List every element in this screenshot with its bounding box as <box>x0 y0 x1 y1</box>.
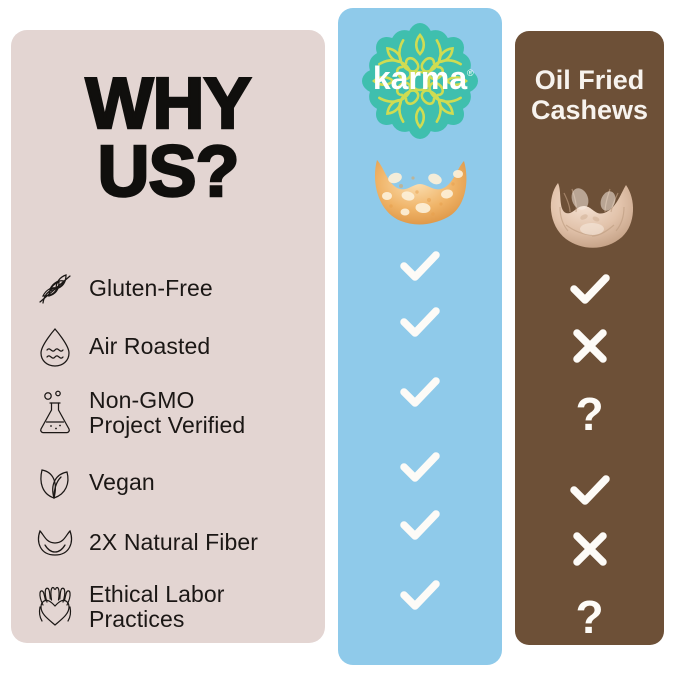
check-icon <box>392 573 448 619</box>
wheat-crossed-icon <box>29 263 81 315</box>
feature-label-line-2: Practices <box>89 606 184 632</box>
karma-marks-column <box>338 8 502 665</box>
title-line-1: WHY <box>11 70 325 138</box>
cashew-icon <box>29 517 81 569</box>
cross-icon <box>562 526 618 572</box>
check-icon <box>392 244 448 290</box>
feature-label-line-2: Project Verified <box>89 412 245 438</box>
question-mark-icon: ? <box>562 594 618 640</box>
page-title: WHY US? <box>11 70 325 207</box>
feature-label-line-1: Non-GMO <box>89 387 195 413</box>
feature-row-natural-fiber: 2X Natural Fiber <box>29 514 325 572</box>
feature-label: Vegan <box>89 470 155 495</box>
question-mark-glyph: ? <box>575 391 603 437</box>
feature-row-non-gmo: Non-GMO Project Verified <box>29 380 325 446</box>
check-icon <box>392 445 448 491</box>
oil-fried-column-panel: Oil Fried Cashews <box>515 31 664 645</box>
cross-icon <box>562 323 618 369</box>
feature-row-gluten-free: Gluten-Free <box>29 260 325 318</box>
comparison-infographic: WHY US? Gluten-Free <box>0 0 679 679</box>
flask-icon <box>29 387 81 439</box>
feature-list: Gluten-Free Air Roasted <box>11 252 325 642</box>
feature-row-vegan: Vegan <box>29 454 325 512</box>
question-mark-glyph: ? <box>575 594 603 640</box>
question-mark-icon: ? <box>562 391 618 437</box>
feature-label-line-1: Ethical Labor <box>89 581 225 607</box>
water-droplet-icon <box>29 321 81 373</box>
title-line-2: US? <box>11 138 325 206</box>
karma-column-panel: karma ® <box>338 8 502 665</box>
feature-row-air-roasted: Air Roasted <box>29 318 325 376</box>
hands-heart-icon <box>29 581 81 633</box>
check-icon <box>562 267 618 313</box>
feature-label: Gluten-Free <box>89 276 213 301</box>
check-icon <box>392 300 448 346</box>
leaves-icon <box>29 457 81 509</box>
oil-fried-marks-column: ? ? <box>515 31 664 645</box>
check-icon <box>392 370 448 416</box>
check-icon <box>562 468 618 514</box>
feature-row-ethical-labor: Ethical Labor Practices <box>29 574 325 640</box>
why-us-panel: WHY US? Gluten-Free <box>11 30 325 643</box>
check-icon <box>392 503 448 549</box>
feature-label: 2X Natural Fiber <box>89 530 258 555</box>
feature-label: Ethical Labor Practices <box>89 582 225 633</box>
feature-label: Non-GMO Project Verified <box>89 388 245 439</box>
feature-label: Air Roasted <box>89 334 210 359</box>
